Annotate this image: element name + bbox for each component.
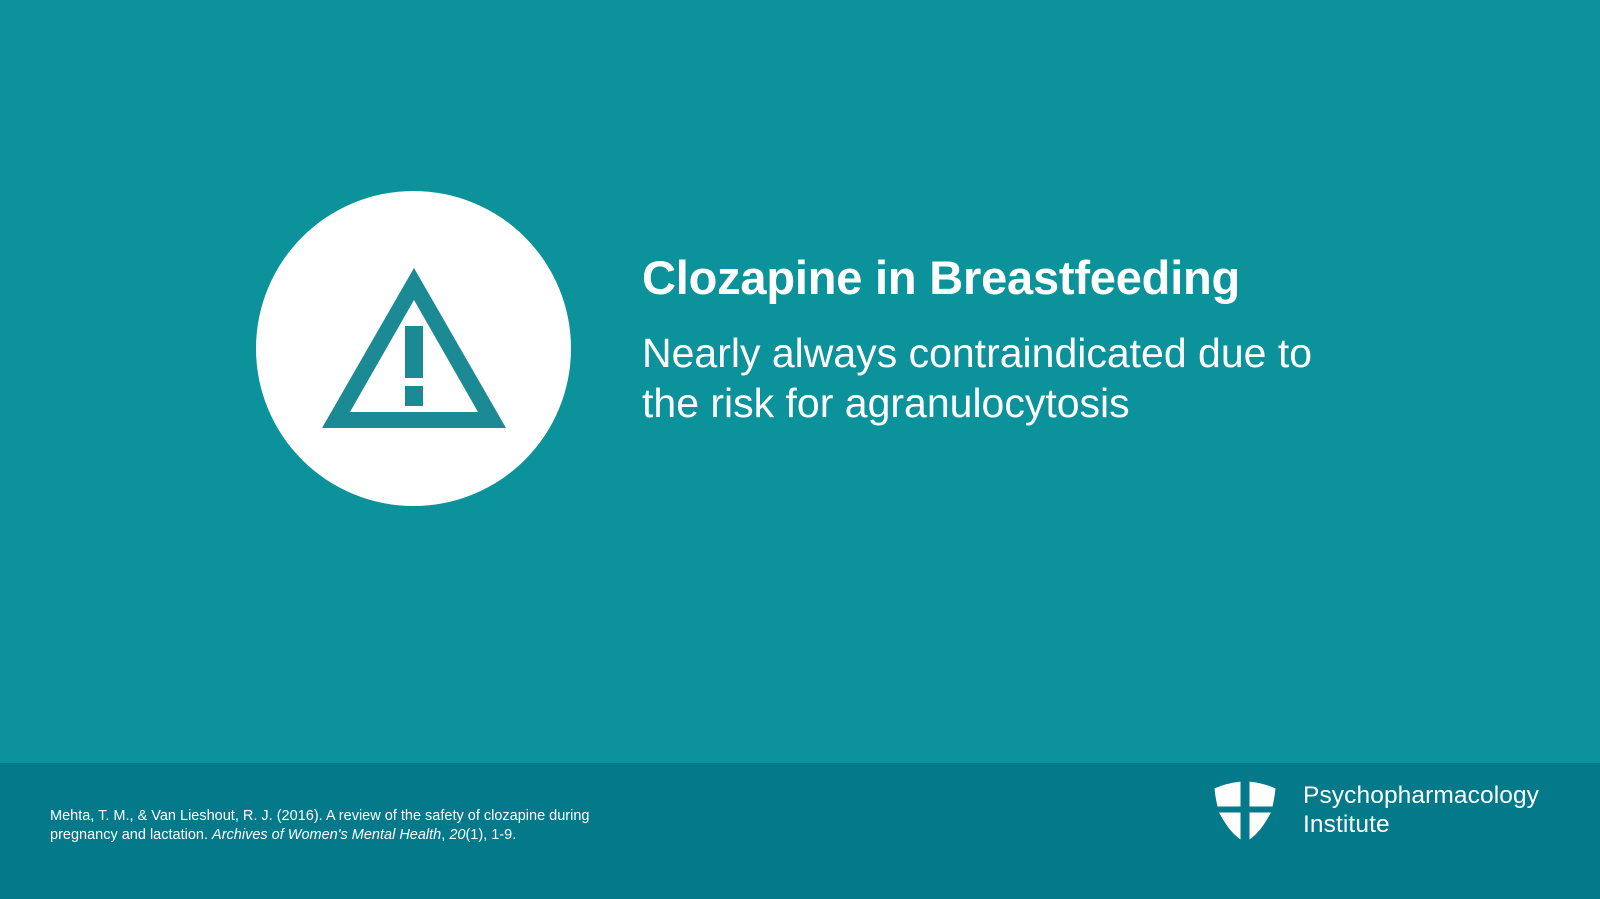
shield-logo-icon xyxy=(1205,778,1285,844)
footer-band: Mehta, T. M., & Van Lieshout, R. J. (201… xyxy=(0,763,1600,899)
brand-name: Psychopharmacology Institute xyxy=(1303,782,1539,839)
warning-triangle-icon xyxy=(320,264,508,434)
citation-volume: 20 xyxy=(449,827,465,843)
citation-journal: Archives of Women's Mental Health xyxy=(212,827,441,843)
brand-name-line1: Psychopharmacology xyxy=(1303,782,1539,811)
brand-name-line2: Institute xyxy=(1303,811,1539,840)
warning-icon-badge xyxy=(256,191,571,506)
page-title: Clozapine in Breastfeeding xyxy=(642,252,1342,305)
slide-subtitle: Nearly always contraindicated due to the… xyxy=(642,328,1314,428)
citation-issue-pages: (1), 1-9. xyxy=(465,827,516,843)
brand-logo: Psychopharmacology Institute xyxy=(1205,778,1539,844)
presentation-slide: Clozapine in Breastfeeding Nearly always… xyxy=(0,0,1600,899)
citation-reference: Mehta, T. M., & Van Lieshout, R. J. (201… xyxy=(50,807,620,844)
slide-text-block: Clozapine in Breastfeeding Nearly always… xyxy=(642,252,1342,428)
